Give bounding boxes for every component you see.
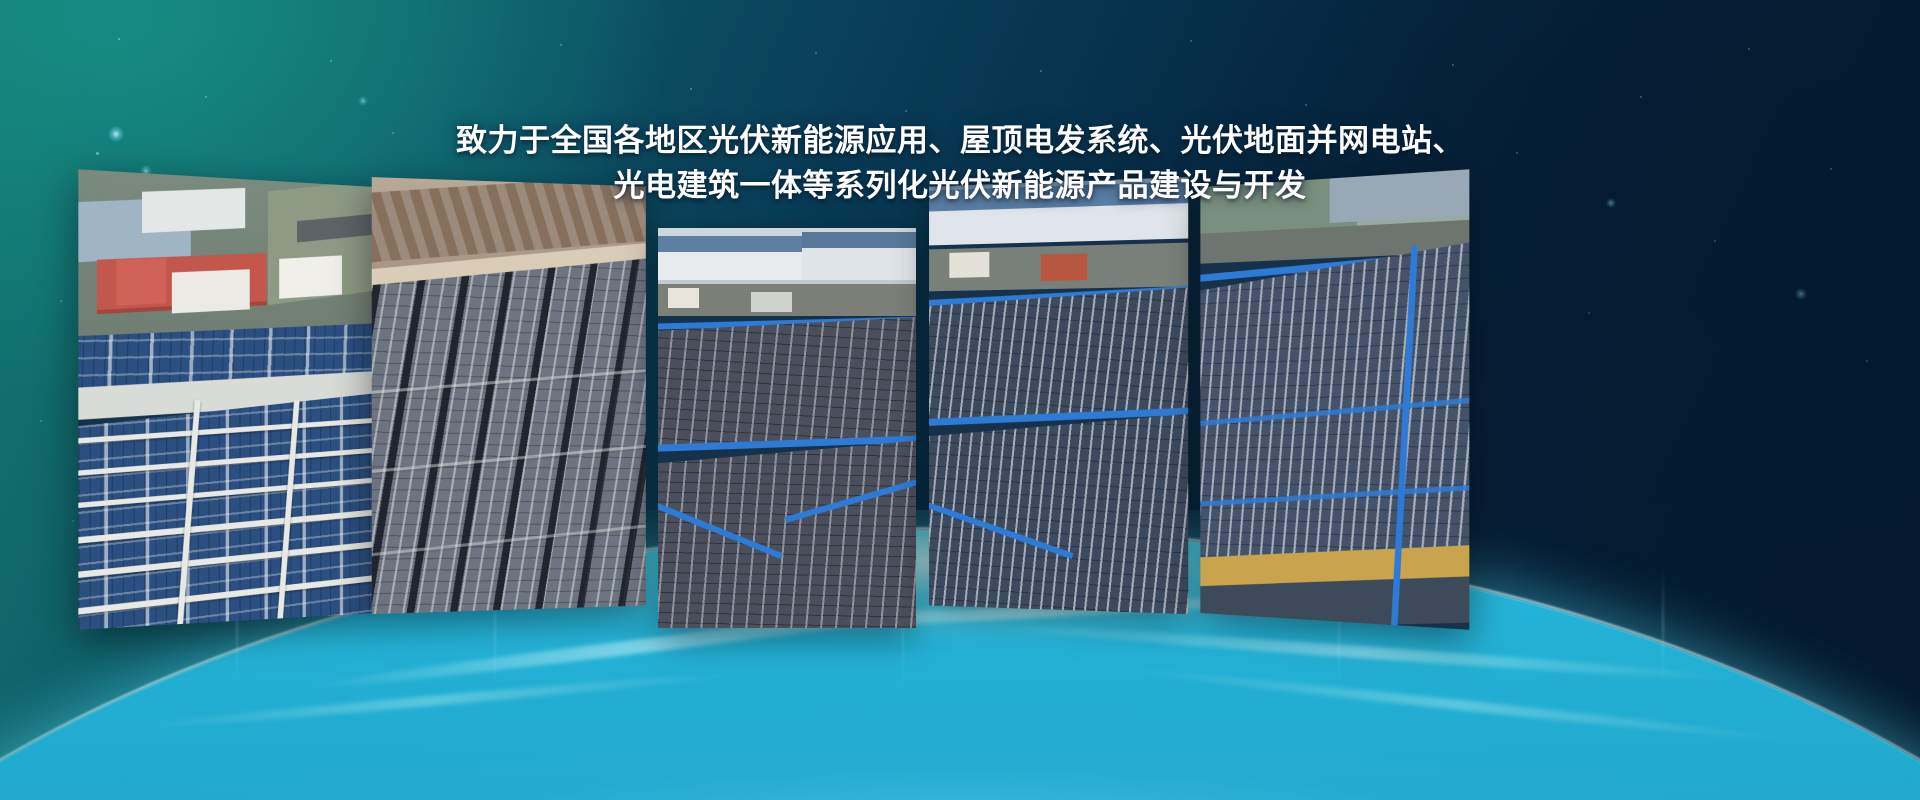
gallery-photo-2[interactable] [372,177,646,614]
photo-4-image [929,177,1188,614]
globe-streak-4 [121,669,740,733]
gallery-photo-5[interactable] [1200,169,1469,630]
gallery-photo-3[interactable] [658,228,916,628]
photo-3-image [658,228,916,628]
gallery-photo-1[interactable] [78,169,375,630]
headline-line-2: 光电建筑一体等系列化光伏新能源产品建设与开发 [0,163,1920,208]
banner-headline: 致力于全国各地区光伏新能源应用、屋顶电发系统、光伏地面并网电站、 光电建筑一体等… [0,118,1920,208]
globe-streak-5 [1121,664,1798,745]
globe-haze [0,610,1920,800]
photo-5-image [1200,169,1469,630]
solar-energy-banner: 致力于全国各地区光伏新能源应用、屋顶电发系统、光伏地面并网电站、 光电建筑一体等… [0,0,1920,800]
headline-line-1: 致力于全国各地区光伏新能源应用、屋顶电发系统、光伏地面并网电站、 [0,118,1920,163]
gallery-photo-4[interactable] [929,177,1188,614]
globe-streak-3 [981,620,1740,685]
photo-gallery-arc [0,186,1920,626]
photo-2-image [372,177,646,614]
photo-1-image [78,169,375,630]
